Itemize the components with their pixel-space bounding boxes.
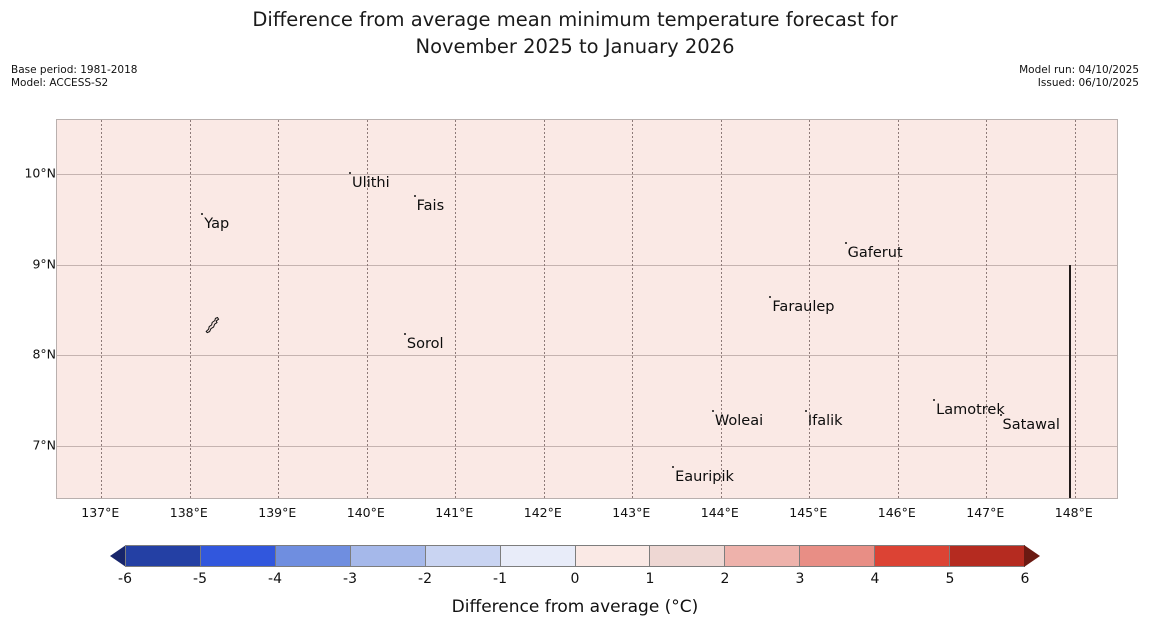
place-label-ifalik: Ifalik [808,414,843,429]
gridline-vertical [721,120,722,498]
colorbar-high-extend-cap [1024,545,1040,567]
colorbar-segment-9 [800,546,875,566]
colorbar-tick-label: 5 [946,571,955,587]
longitude-tick-label: 142°E [524,505,562,520]
place-marker-dot [769,296,771,298]
colorbar-tick-label: 6 [1021,571,1030,587]
colorbar-tick-label: -2 [418,571,432,587]
yap-island-shape [205,316,221,334]
gridline-vertical [544,120,545,498]
colorbar-tick-label: 1 [646,571,655,587]
longitude-tick-label: 147°E [966,505,1004,520]
gridline-horizontal [57,265,1117,266]
latitude-tick-label: 10°N [24,166,56,181]
gridline-vertical [101,120,102,498]
colorbar-segment-5 [501,546,576,566]
place-label-faraulep: Faraulep [772,300,834,315]
gridline-horizontal [57,174,1117,175]
place-marker-dot [712,410,714,412]
base-period-text: Base period: 1981-2018 [11,64,137,77]
colorbar-tick-label: -6 [118,571,132,587]
place-label-gaferut: Gaferut [848,246,903,261]
colorbar-axis-title: Difference from average (°C) [0,597,1150,617]
colorbar-low-extend-cap [110,545,126,567]
colorbar-tick-label: 4 [871,571,880,587]
place-marker-dot [845,242,847,244]
title-line-2: November 2025 to January 2026 [0,33,1150,60]
map-plot-area: UlithiFaisYapGaferutFaraulepSorolLamotre… [56,119,1118,499]
gridline-horizontal [57,446,1117,447]
colorbar-segment-2 [276,546,351,566]
latitude-tick-label: 7°N [32,437,56,452]
colorbar-tick-label: 2 [721,571,730,587]
colorbar-tick-label: -5 [193,571,207,587]
colorbar-segment-1 [201,546,276,566]
longitude-tick-label: 145°E [789,505,827,520]
place-marker-dot [933,399,935,401]
model-text: Model: ACCESS-S2 [11,77,137,90]
place-marker-dot [672,466,674,468]
place-marker-dot [1000,414,1002,416]
gridline-vertical [632,120,633,498]
place-label-eauripik: Eauripik [675,470,734,485]
colorbar-tick-label: 0 [571,571,580,587]
place-marker-dot [414,195,416,197]
colorbar-segment-6 [576,546,651,566]
gridline-vertical [986,120,987,498]
place-label-woleai: Woleai [715,414,763,429]
longitude-tick-label: 140°E [347,505,385,520]
colorbar-segment-7 [650,546,725,566]
title-line-1: Difference from average mean minimum tem… [0,6,1150,33]
gridline-vertical [455,120,456,498]
longitude-tick-label: 148°E [1055,505,1093,520]
colorbar-segment-4 [426,546,501,566]
colorbar-tick-label: -4 [268,571,282,587]
gridline-vertical [278,120,279,498]
place-marker-dot [404,333,406,335]
colorbar-segments [125,545,1025,567]
colorbar-segment-11 [950,546,1024,566]
place-marker-dot [201,213,203,215]
place-label-sorol: Sorol [407,337,444,352]
metadata-left: Base period: 1981-2018 Model: ACCESS-S2 [11,64,137,90]
colorbar-segment-10 [875,546,950,566]
longitude-tick-label: 137°E [81,505,119,520]
place-label-lamotrek: Lamotrek [936,403,1005,418]
colorbar-segment-3 [351,546,426,566]
place-marker-dot [805,410,807,412]
gridline-vertical [898,120,899,498]
longitude-tick-label: 138°E [170,505,208,520]
gridline-vertical [1075,120,1076,498]
issued-text: Issued: 06/10/2025 [1019,77,1139,90]
colorbar-segment-0 [126,546,201,566]
place-label-fais: Fais [417,199,444,214]
metadata-right: Model run: 04/10/2025 Issued: 06/10/2025 [1019,64,1139,90]
longitude-tick-label: 143°E [612,505,650,520]
gridline-horizontal [57,355,1117,356]
place-label-yap: Yap [204,217,229,232]
colorbar-tick-label: -3 [343,571,357,587]
longitude-tick-label: 146°E [878,505,916,520]
longitude-tick-label: 141°E [435,505,473,520]
map-canvas: UlithiFaisYapGaferutFaraulepSorolLamotre… [57,120,1117,498]
colorbar-tick-label: -1 [493,571,507,587]
page-title: Difference from average mean minimum tem… [0,6,1150,60]
latitude-tick-label: 9°N [32,256,56,271]
gridline-vertical [190,120,191,498]
colorbar-tick-label: 3 [796,571,805,587]
latitude-tick-label: 8°N [32,347,56,362]
place-marker-dot [349,172,351,174]
model-run-text: Model run: 04/10/2025 [1019,64,1139,77]
longitude-tick-label: 144°E [701,505,739,520]
eez-boundary-segment [1069,265,1072,498]
colorbar: -6-5-4-3-2-10123456 Difference from aver… [0,543,1150,643]
place-label-satawal: Satawal [1003,418,1060,433]
longitude-tick-label: 139°E [258,505,296,520]
colorbar-segment-8 [725,546,800,566]
place-label-ulithi: Ulithi [352,176,390,191]
